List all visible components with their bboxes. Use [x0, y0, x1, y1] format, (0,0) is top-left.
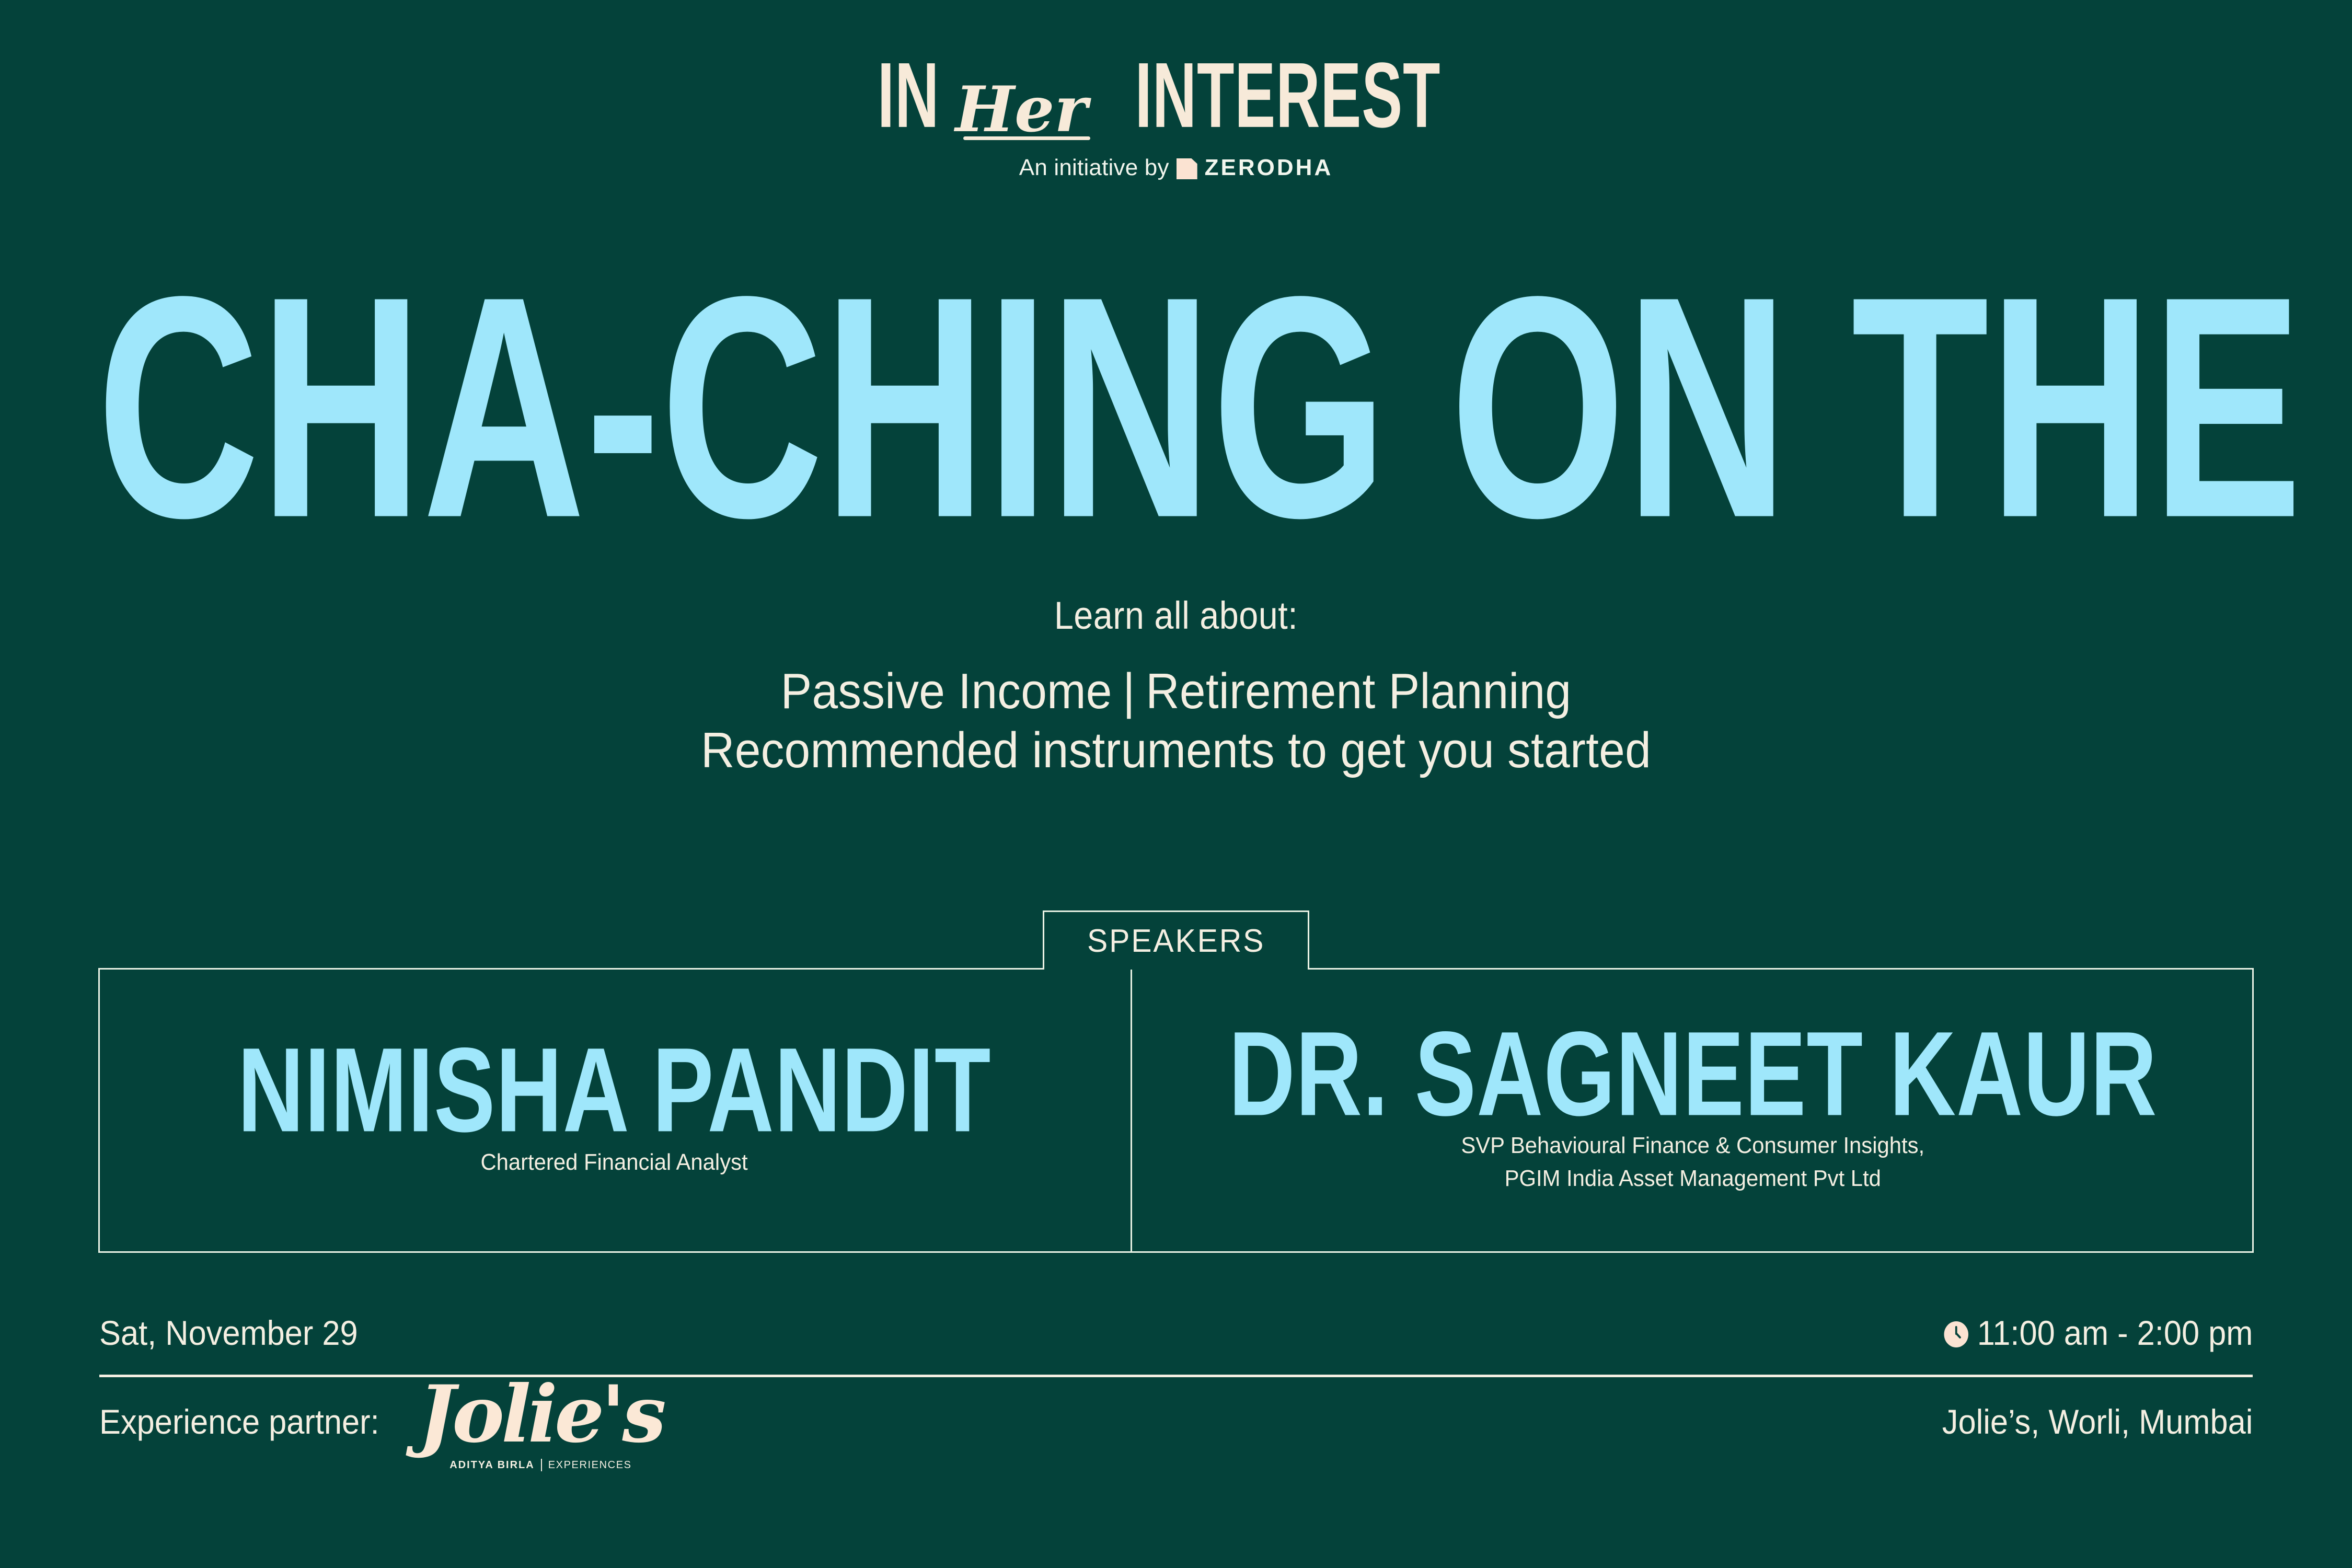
zerodha-logo-icon — [1177, 158, 1197, 179]
speaker-title-1-line-1: Chartered Financial Analyst — [481, 1146, 748, 1179]
jolies-tag-aditya-birla: ADITYA BIRLA — [449, 1460, 535, 1470]
subtitle-block: Learn all about: Passive Income|Retireme… — [0, 593, 2352, 780]
speaker-card-2: DR. SAGNEET KAUR SVP Behavioural Finance… — [1131, 968, 2254, 1253]
zerodha-wordmark: ZERODHA — [1205, 155, 1333, 181]
logo-word-in: IN — [877, 49, 939, 141]
speakers-grid: NIMISHA PANDIT Chartered Financial Analy… — [98, 968, 2254, 1253]
event-poster: INHerINTEREST An initiative by ZERODHA C… — [0, 0, 2352, 1568]
speaker-name-2: DR. SAGNEET KAUR — [1229, 1020, 2158, 1128]
logo-word-interest: INTEREST — [1135, 49, 1440, 141]
topic-separator: | — [1112, 662, 1146, 721]
speaker-title-2-line-2: PGIM India Asset Management Pvt Ltd — [1461, 1162, 1925, 1195]
speaker-title-2: SVP Behavioural Finance & Consumer Insig… — [1461, 1129, 1925, 1195]
event-date: Sat, November 29 — [99, 1313, 358, 1353]
experience-partner-block: Experience partner: Jolie's ADITYA BIRLA… — [99, 1375, 663, 1468]
page-title: CHA-CHING ON THE SIDE! — [97, 272, 1888, 543]
topics-row-one: Passive Income|Retirement Planning — [83, 662, 2270, 721]
speaker-title-2-line-1: SVP Behavioural Finance & Consumer Insig… — [1461, 1129, 1925, 1162]
clock-icon — [1944, 1321, 1968, 1347]
event-time-text: 11:00 am - 2:00 pm — [1977, 1313, 2253, 1353]
footer-row-partner-venue: Experience partner: Jolie's ADITYA BIRLA… — [99, 1377, 2253, 1466]
jolies-tag-divider — [541, 1459, 542, 1471]
speakers-label: SPEAKERS — [1087, 923, 1265, 960]
jolies-logo: Jolie's ADITYA BIRLA EXPERIENCES — [418, 1378, 663, 1471]
in-her-interest-logo: INHerINTEREST — [869, 63, 1484, 141]
topic-passive-income: Passive Income — [781, 663, 1112, 719]
speakers-section: SPEAKERS NIMISHA PANDIT Chartered Financ… — [98, 968, 2254, 1253]
poster-footer: Sat, November 29 11:00 am - 2:00 pm Expe… — [99, 1291, 2253, 1466]
logo-word-her: Her — [955, 78, 1088, 141]
jolies-wordmark: Jolie's — [418, 1378, 663, 1450]
experience-partner-label: Experience partner: — [99, 1402, 379, 1442]
speaker-card-1: NIMISHA PANDIT Chartered Financial Analy… — [98, 968, 1131, 1253]
initiative-prefix: An initiative by — [1019, 155, 1169, 181]
speaker-title-1: Chartered Financial Analyst — [481, 1146, 748, 1179]
topic-retirement-planning: Retirement Planning — [1146, 663, 1571, 719]
jolies-tagline: ADITYA BIRLA EXPERIENCES — [449, 1459, 631, 1471]
jolies-tag-experiences: EXPERIENCES — [548, 1460, 632, 1470]
topics-list: Passive Income|Retirement Planning Recom… — [83, 662, 2270, 780]
learn-all-about-label: Learn all about: — [118, 593, 2234, 638]
speaker-name-1: NIMISHA PANDIT — [237, 1036, 991, 1145]
speakers-tab: SPEAKERS — [1043, 910, 1309, 970]
event-time: 11:00 am - 2:00 pm — [1944, 1313, 2253, 1353]
brand-header: INHerINTEREST An initiative by ZERODHA — [0, 63, 2352, 181]
event-venue: Jolie’s, Worli, Mumbai — [1942, 1402, 2253, 1442]
footer-row-datetime: Sat, November 29 11:00 am - 2:00 pm — [99, 1291, 2253, 1375]
initiative-line: An initiative by ZERODHA — [0, 155, 2352, 181]
topic-recommended-instruments: Recommended instruments to get you start… — [83, 721, 2270, 780]
